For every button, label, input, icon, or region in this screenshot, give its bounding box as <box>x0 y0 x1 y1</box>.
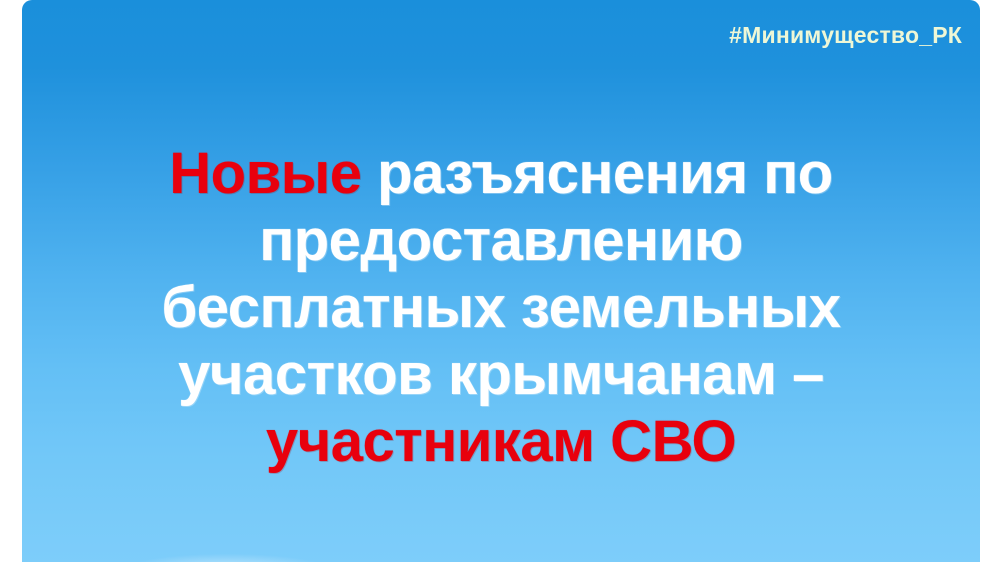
headline-line-4: участков крымчанам – <box>50 341 952 408</box>
headline-line-1: Новые разъяснения по <box>50 140 952 207</box>
headline-line-1-rest: разъяснения по <box>362 141 833 206</box>
headline-block: Новые разъяснения по предоставлению бесп… <box>22 140 980 475</box>
bottom-glow-decoration <box>122 554 332 562</box>
banner-stage: #Минимущество_РК Новые разъяснения по пр… <box>0 0 1000 562</box>
headline-accent-word: Новые <box>169 141 361 206</box>
hashtag-label: #Минимущество_РК <box>729 24 962 47</box>
headline-line-2: предоставлению <box>50 207 952 274</box>
banner-card: #Минимущество_РК Новые разъяснения по пр… <box>22 0 980 562</box>
headline-line-5: участникам СВО <box>50 408 952 475</box>
headline-line-3: бесплатных земельных <box>50 274 952 341</box>
